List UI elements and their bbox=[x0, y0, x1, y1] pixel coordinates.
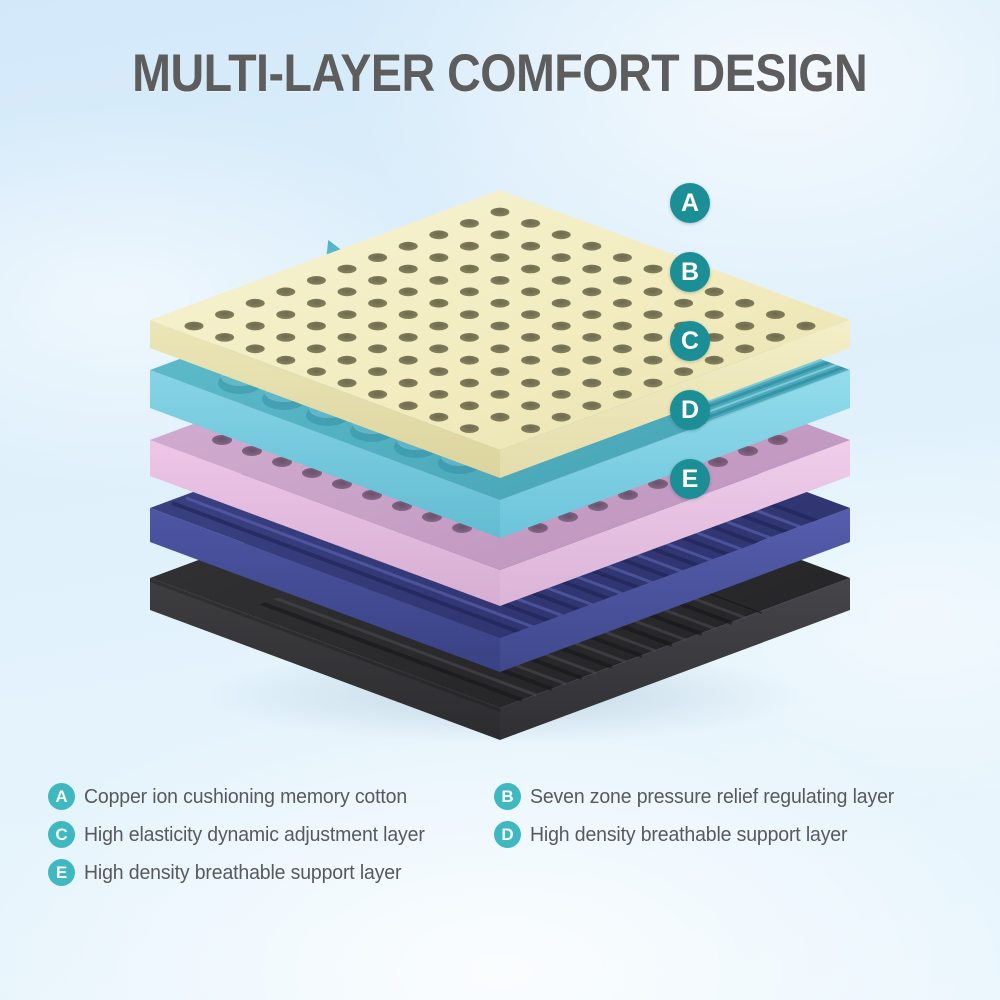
perforation-hole bbox=[613, 253, 632, 262]
perforation-hole bbox=[521, 265, 540, 274]
perforation-hole bbox=[521, 401, 540, 410]
perforation-hole bbox=[338, 379, 357, 388]
legend-label-c: High elasticity dynamic adjustment layer bbox=[84, 823, 425, 847]
legend-label-a: Copper ion cushioning memory cotton bbox=[84, 785, 407, 809]
perforation-hole bbox=[613, 276, 632, 285]
perforation-hole bbox=[368, 367, 387, 376]
perforation-hole bbox=[766, 333, 785, 342]
perforation-hole bbox=[582, 333, 601, 342]
perforation-hole bbox=[399, 356, 418, 365]
perforation-hole bbox=[307, 344, 326, 353]
page-title-text: MULTI-LAYER COMFORT DESIGN bbox=[132, 46, 867, 101]
perforation-hole bbox=[460, 333, 479, 342]
perforation-hole bbox=[552, 344, 571, 353]
perforation-hole bbox=[460, 379, 479, 388]
legend-badge-b: B bbox=[494, 783, 521, 810]
perforation-hole bbox=[644, 333, 663, 342]
perforation-hole bbox=[552, 253, 571, 262]
perforation-hole bbox=[491, 413, 510, 422]
perforation-hole bbox=[368, 390, 387, 399]
perforation-hole bbox=[521, 379, 540, 388]
page-title: MULTI-LAYER COMFORT DESIGN bbox=[0, 46, 1000, 101]
perforation-hole bbox=[460, 219, 479, 228]
perforation-hole bbox=[338, 356, 357, 365]
perforation-hole bbox=[491, 367, 510, 376]
perforation-hole bbox=[246, 299, 265, 308]
perforation-hole bbox=[429, 367, 448, 376]
perforation-hole bbox=[521, 310, 540, 319]
perforation-hole bbox=[185, 322, 204, 331]
perforation-hole bbox=[644, 287, 663, 296]
perforation-hole bbox=[368, 322, 387, 331]
perforation-hole bbox=[399, 287, 418, 296]
perforation-hole bbox=[491, 208, 510, 217]
perforation-hole bbox=[613, 299, 632, 308]
perforation-hole bbox=[429, 413, 448, 422]
perforation-hole bbox=[399, 379, 418, 388]
perforation-hole bbox=[644, 265, 663, 274]
legend-item-c[interactable]: C High elasticity dynamic adjustment lay… bbox=[48, 821, 494, 848]
perforation-hole bbox=[735, 299, 754, 308]
perforation-hole bbox=[307, 299, 326, 308]
perforation-hole bbox=[521, 356, 540, 365]
perforation-hole bbox=[429, 299, 448, 308]
perforation-hole bbox=[582, 356, 601, 365]
perforation-hole bbox=[429, 390, 448, 399]
perforation-hole bbox=[460, 242, 479, 251]
perforation-hole bbox=[582, 379, 601, 388]
poster-root: MULTI-LAYER COMFORT DESIGN bbox=[0, 0, 1000, 1000]
legend-item-e[interactable]: E High density breathable support layer bbox=[48, 859, 494, 886]
perforation-hole bbox=[338, 287, 357, 296]
perforation-hole bbox=[552, 322, 571, 331]
perforation-hole bbox=[644, 379, 663, 388]
perforation-hole bbox=[399, 242, 418, 251]
perforation-hole bbox=[215, 310, 234, 319]
legend-item-b[interactable]: B Seven zone pressure relief regulating … bbox=[494, 783, 964, 810]
legend-badge-c: C bbox=[48, 821, 75, 848]
legend-item-d[interactable]: D High density breathable support layer bbox=[494, 821, 964, 848]
perforation-hole bbox=[246, 344, 265, 353]
perforation-hole bbox=[552, 390, 571, 399]
perforation-hole bbox=[613, 322, 632, 331]
perforation-hole bbox=[521, 333, 540, 342]
perforation-hole bbox=[705, 356, 724, 365]
perforation-hole bbox=[429, 253, 448, 262]
perforation-hole bbox=[460, 287, 479, 296]
perforation-hole bbox=[491, 299, 510, 308]
perforation-hole bbox=[582, 242, 601, 251]
perforation-hole bbox=[644, 310, 663, 319]
layer-badge-C[interactable]: C bbox=[670, 321, 710, 361]
perforation-hole bbox=[797, 322, 816, 331]
perforation-hole bbox=[491, 344, 510, 353]
perforation-hole bbox=[582, 265, 601, 274]
legend: A Copper ion cushioning memory cotton B … bbox=[48, 783, 968, 897]
legend-label-b: Seven zone pressure relief regulating la… bbox=[530, 785, 894, 809]
perforation-hole bbox=[276, 287, 295, 296]
perforation-hole bbox=[552, 413, 571, 422]
perforation-hole bbox=[491, 253, 510, 262]
perforation-hole bbox=[491, 390, 510, 399]
perforation-hole bbox=[338, 265, 357, 274]
perforation-hole bbox=[491, 276, 510, 285]
perforation-hole bbox=[399, 333, 418, 342]
perforation-hole bbox=[460, 265, 479, 274]
perforation-hole bbox=[582, 310, 601, 319]
perforation-hole bbox=[399, 310, 418, 319]
perforation-hole bbox=[521, 287, 540, 296]
perforation-hole bbox=[552, 299, 571, 308]
perforation-hole bbox=[276, 310, 295, 319]
perforation-hole bbox=[338, 310, 357, 319]
perforation-hole bbox=[491, 230, 510, 239]
perforation-hole bbox=[276, 356, 295, 365]
legend-label-e: High density breathable support layer bbox=[84, 861, 401, 885]
perforation-hole bbox=[399, 265, 418, 274]
legend-row: E High density breathable support layer bbox=[48, 859, 968, 886]
layer-stack-svg bbox=[0, 140, 1000, 760]
perforation-hole bbox=[368, 253, 387, 262]
layer-badge-E[interactable]: E bbox=[670, 459, 710, 499]
perforation-hole bbox=[460, 356, 479, 365]
perforation-hole bbox=[368, 299, 387, 308]
perforation-hole bbox=[429, 276, 448, 285]
perforation-hole bbox=[399, 401, 418, 410]
legend-item-a[interactable]: A Copper ion cushioning memory cotton bbox=[48, 783, 494, 810]
perforation-hole bbox=[429, 230, 448, 239]
legend-label-d: High density breathable support layer bbox=[530, 823, 847, 847]
perforation-hole bbox=[460, 424, 479, 433]
perforation-hole bbox=[276, 333, 295, 342]
perforation-hole bbox=[460, 401, 479, 410]
perforation-hole bbox=[552, 230, 571, 239]
legend-badge-d: D bbox=[494, 821, 521, 848]
perforation-hole bbox=[368, 276, 387, 285]
perforation-hole bbox=[705, 310, 724, 319]
legend-row: C High elasticity dynamic adjustment lay… bbox=[48, 821, 968, 848]
layer-badge-B[interactable]: B bbox=[670, 252, 710, 292]
layer-badge-A[interactable]: A bbox=[670, 183, 710, 223]
perforation-hole bbox=[429, 344, 448, 353]
perforation-hole bbox=[552, 367, 571, 376]
layer-badge-D[interactable]: D bbox=[670, 390, 710, 430]
perforation-hole bbox=[705, 287, 724, 296]
perforation-hole bbox=[215, 333, 234, 342]
legend-badge-a: A bbox=[48, 783, 75, 810]
perforation-hole bbox=[582, 287, 601, 296]
perforation-hole bbox=[307, 276, 326, 285]
perforation-hole bbox=[613, 344, 632, 353]
perforation-hole bbox=[491, 322, 510, 331]
perforation-hole bbox=[521, 242, 540, 251]
perforation-hole bbox=[613, 390, 632, 399]
perforation-hole bbox=[582, 401, 601, 410]
perforation-hole bbox=[368, 344, 387, 353]
legend-badge-e: E bbox=[48, 859, 75, 886]
perforation-hole bbox=[766, 310, 785, 319]
perforation-hole bbox=[552, 276, 571, 285]
perforation-hole bbox=[735, 344, 754, 353]
perforation-hole bbox=[735, 322, 754, 331]
perforation-hole bbox=[521, 219, 540, 228]
perforation-hole bbox=[674, 367, 693, 376]
layer-stack-diagram: A B C D E bbox=[0, 140, 1000, 760]
legend-row: A Copper ion cushioning memory cotton B … bbox=[48, 783, 968, 810]
perforation-hole bbox=[246, 322, 265, 331]
perforation-hole bbox=[644, 356, 663, 365]
perforation-hole bbox=[307, 322, 326, 331]
perforation-hole bbox=[613, 367, 632, 376]
perforation-hole bbox=[521, 424, 540, 433]
perforation-hole bbox=[674, 299, 693, 308]
perforation-hole bbox=[307, 367, 326, 376]
perforation-hole bbox=[429, 322, 448, 331]
perforation-hole bbox=[460, 310, 479, 319]
perforation-hole bbox=[338, 333, 357, 342]
